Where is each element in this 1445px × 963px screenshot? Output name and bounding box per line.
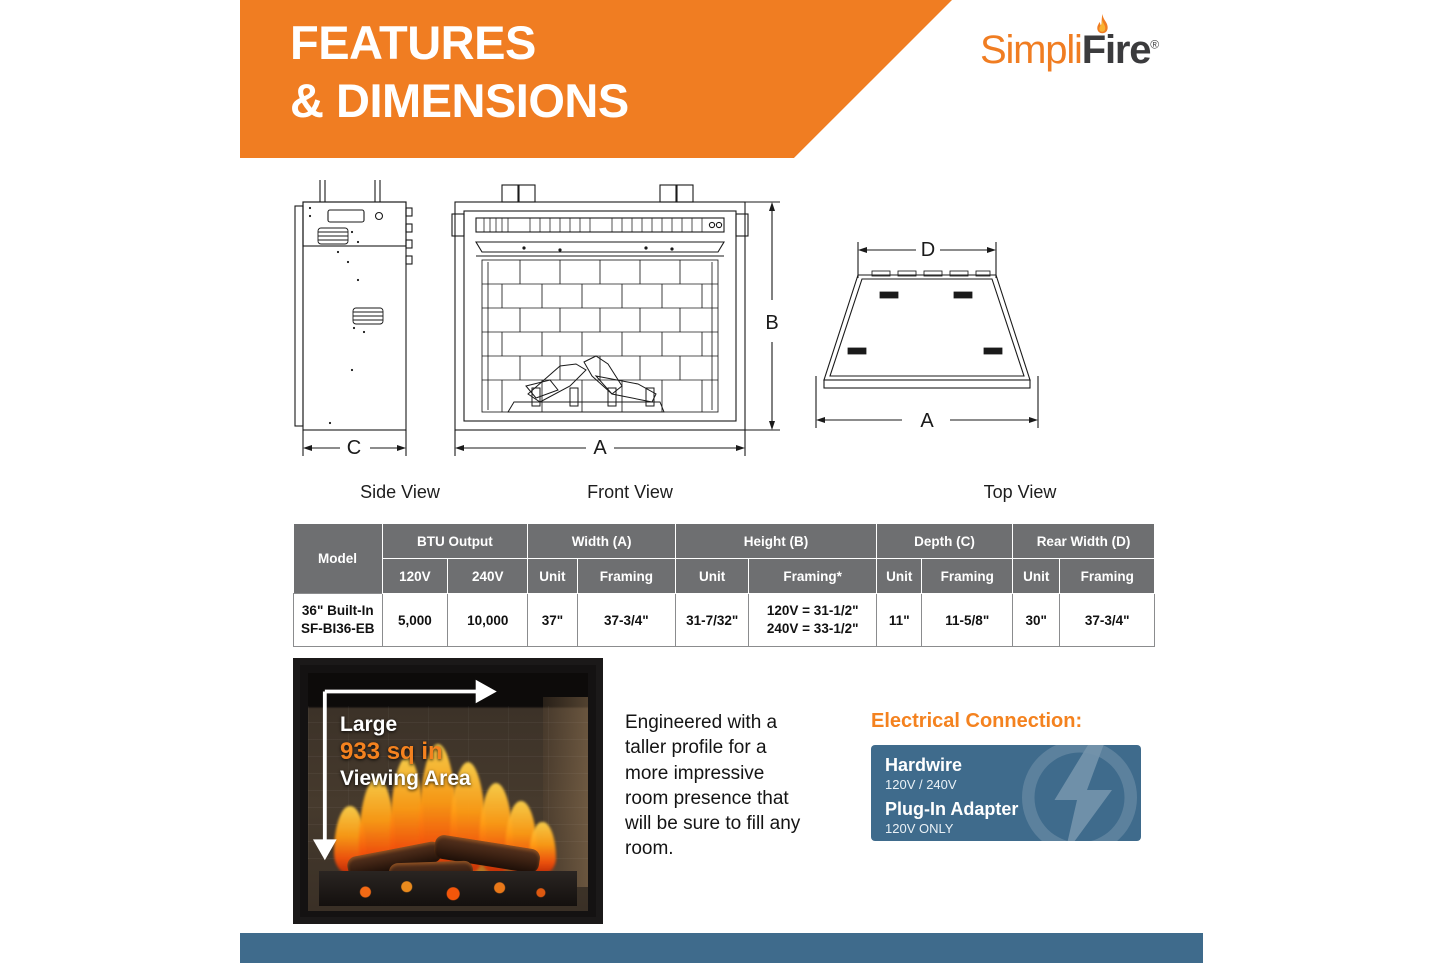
electrical-options-list: Hardwire 120V / 240V Plug-In Adapter 120… bbox=[885, 755, 1018, 841]
page-title-line-2: & DIMENSIONS bbox=[290, 72, 850, 130]
specifications-table: Model BTU Output Width (A) Height (B) De… bbox=[293, 523, 1155, 647]
cell-model: 36" Built-In SF-BI36-EB bbox=[294, 594, 383, 647]
table-subheader-btu-240v: 240V bbox=[448, 559, 528, 594]
registered-trademark-icon: ® bbox=[1150, 38, 1158, 52]
callout-area-value: 933 sq in bbox=[340, 738, 520, 767]
table-header-model: Model bbox=[294, 524, 383, 594]
brand-name-part2: Fire bbox=[1082, 28, 1151, 72]
top-view-drawing: D A bbox=[816, 239, 1038, 432]
dimension-label-a-top: A bbox=[920, 410, 934, 432]
lightning-bolt-icon bbox=[1012, 745, 1141, 841]
footer-bar bbox=[240, 933, 1203, 963]
front-view-drawing: B A bbox=[452, 185, 780, 459]
technical-drawings: C bbox=[240, 180, 1205, 510]
cell-depth-unit: 11" bbox=[877, 594, 922, 647]
table-subheader-btu-120v: 120V bbox=[382, 559, 448, 594]
page-title: FEATURES & DIMENSIONS bbox=[290, 14, 850, 131]
view-label-side: Side View bbox=[320, 482, 480, 503]
cell-btu-240v: 10,000 bbox=[448, 594, 528, 647]
cell-rear-unit: 30" bbox=[1013, 594, 1060, 647]
cell-model-line2: SF-BI36-EB bbox=[294, 620, 382, 638]
cell-btu-120v: 5,000 bbox=[382, 594, 448, 647]
cell-model-line1: 36" Built-In bbox=[294, 602, 382, 620]
page-title-line-1: FEATURES bbox=[290, 14, 850, 72]
cell-height-framing: 120V = 31-1/2" 240V = 33-1/2" bbox=[749, 594, 877, 647]
brand-name-part1: Simpli bbox=[980, 28, 1082, 72]
electrical-connection-title: Electrical Connection: bbox=[871, 710, 1082, 733]
table-row: 36" Built-In SF-BI36-EB 5,000 10,000 37"… bbox=[294, 594, 1155, 647]
table-subheader-depth-unit: Unit bbox=[877, 559, 922, 594]
dimension-label-c: C bbox=[347, 437, 361, 459]
product-description: Engineered with a taller profile for a m… bbox=[625, 710, 805, 862]
electrical-option-detail: 120V / 240V bbox=[885, 776, 1018, 794]
electrical-connection-panel: Hardwire 120V / 240V Plug-In Adapter 120… bbox=[871, 745, 1141, 841]
electrical-option-name: Plug-In Adapter bbox=[885, 799, 1018, 820]
cell-rear-framing: 37-3/4" bbox=[1060, 594, 1155, 647]
table-header-rear-width: Rear Width (D) bbox=[1013, 524, 1155, 559]
cell-height-framing-line1: 120V = 31-1/2" bbox=[749, 602, 876, 620]
table-subheader-height-unit: Unit bbox=[676, 559, 749, 594]
cell-height-unit: 31-7/32" bbox=[676, 594, 749, 647]
table-subheader-rear-framing: Framing bbox=[1060, 559, 1155, 594]
dimension-label-d: D bbox=[921, 239, 935, 261]
brand-logo-text: SimpliFire® bbox=[980, 30, 1158, 70]
view-label-top: Top View bbox=[930, 482, 1110, 503]
table-subheader-height-framing: Framing* bbox=[749, 559, 877, 594]
electrical-option-name: Hardwire bbox=[885, 755, 1018, 776]
cell-depth-framing: 11-5/8" bbox=[922, 594, 1013, 647]
side-view-drawing: C bbox=[295, 180, 412, 459]
table-subheader-width-framing: Framing bbox=[577, 559, 675, 594]
cell-height-framing-line2: 240V = 33-1/2" bbox=[749, 620, 876, 638]
table-header-depth: Depth (C) bbox=[877, 524, 1013, 559]
view-label-front: Front View bbox=[530, 482, 730, 503]
electrical-option-detail: 120V ONLY bbox=[885, 820, 1018, 838]
callout-line-3: Viewing Area bbox=[340, 767, 520, 792]
arrow-down-icon bbox=[316, 841, 333, 856]
cell-width-unit: 37" bbox=[528, 594, 577, 647]
table-header-group-row: Model BTU Output Width (A) Height (B) De… bbox=[294, 524, 1155, 559]
fireplace-product-image: Large 933 sq in Viewing Area bbox=[293, 658, 603, 924]
callout-line-1: Large bbox=[340, 713, 520, 738]
table-header-height: Height (B) bbox=[676, 524, 877, 559]
dimension-label-b: B bbox=[765, 312, 778, 334]
table-header-btu-output: BTU Output bbox=[382, 524, 528, 559]
brand-logo: SimpliFire® bbox=[980, 18, 1180, 76]
viewing-area-callout: Large 933 sq in Viewing Area bbox=[340, 713, 520, 791]
table-header-width: Width (A) bbox=[528, 524, 676, 559]
table-subheader-width-unit: Unit bbox=[528, 559, 577, 594]
cell-width-framing: 37-3/4" bbox=[577, 594, 675, 647]
table-subheader-depth-framing: Framing bbox=[922, 559, 1013, 594]
arrow-right-icon bbox=[478, 683, 493, 700]
table-subheader-row: 120V 240V Unit Framing Unit Framing* Uni… bbox=[294, 559, 1155, 594]
dimension-label-a-front: A bbox=[593, 437, 607, 459]
drawings-svg: C bbox=[240, 180, 1205, 480]
table-subheader-rear-unit: Unit bbox=[1013, 559, 1060, 594]
